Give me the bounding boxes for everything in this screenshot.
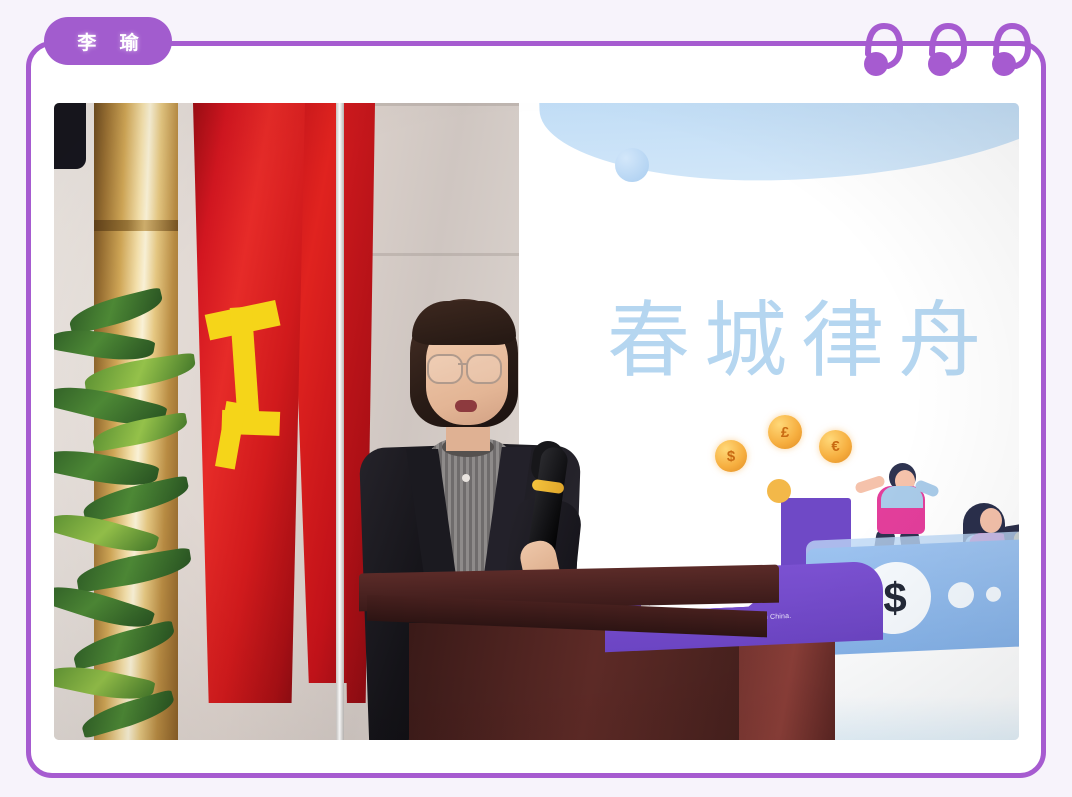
slide-dot-large xyxy=(615,148,649,182)
glasses-lens-right xyxy=(466,354,502,384)
hook-ornament-3 xyxy=(986,14,1038,84)
dark-wall-panel xyxy=(54,103,86,169)
speaking-podium: 大成DENTONS 大成 is Dentons' Preferred Law F… xyxy=(359,569,834,740)
glasses-lens-left xyxy=(427,354,463,384)
banknote-dot xyxy=(986,586,1001,602)
slide-wave-decoration xyxy=(537,103,1019,187)
plant-leaf xyxy=(66,287,165,335)
plant-leaf xyxy=(75,547,194,593)
hair-front xyxy=(412,301,516,345)
coin-pound-icon: £ xyxy=(768,415,802,449)
slide-title: 春城律舟 xyxy=(607,273,1019,393)
illustration-ball xyxy=(767,479,791,503)
hook-ornament-1 xyxy=(858,14,910,84)
speaker-name-text: 李 瑜 xyxy=(68,28,147,55)
gold-column-band xyxy=(94,220,178,231)
event-photograph: 春城律舟 $ £ € xyxy=(54,103,1019,740)
glasses-bridge xyxy=(458,363,468,365)
figure-face xyxy=(980,508,1002,533)
banknote-dot xyxy=(948,582,974,609)
coin-euro-icon: € xyxy=(819,430,852,463)
flag-pole xyxy=(336,103,344,740)
necklace-pendant xyxy=(462,474,470,482)
plant-leaf xyxy=(70,620,177,670)
coin-dollar-icon: $ xyxy=(715,440,747,472)
hook-ornament-2 xyxy=(922,14,974,84)
speaker-name-badge: 李 瑜 xyxy=(44,17,172,65)
mouth xyxy=(455,400,477,412)
potted-plant xyxy=(54,288,231,740)
